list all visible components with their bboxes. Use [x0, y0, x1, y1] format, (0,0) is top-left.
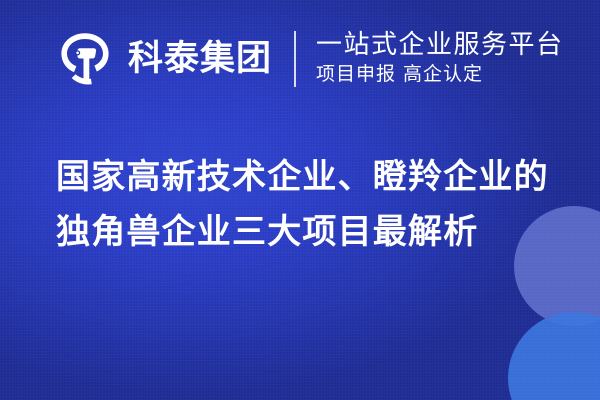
brand-header: 科泰集团 一站式企业服务平台 项目申报 高企认定	[56, 26, 564, 92]
header-divider	[294, 31, 296, 87]
decorative-circle-front	[508, 312, 600, 400]
title-line-2: 独角兽企业三大项目最解析	[56, 205, 566, 260]
tagline-main: 一站式企业服务平台	[316, 31, 564, 60]
promo-banner: 科泰集团 一站式企业服务平台 项目申报 高企认定 国家高新技术企业、瞪羚企业的 …	[0, 0, 600, 400]
title-line-1: 国家高新技术企业、瞪羚企业的	[56, 150, 566, 205]
tagline-block: 一站式企业服务平台 项目申报 高企认定	[316, 31, 564, 87]
ketai-circular-logo-icon	[56, 30, 114, 88]
page-title: 国家高新技术企业、瞪羚企业的 独角兽企业三大项目最解析	[56, 150, 566, 260]
tagline-sub: 项目申报 高企认定	[316, 63, 564, 87]
brand-name: 科泰集团	[128, 42, 272, 77]
